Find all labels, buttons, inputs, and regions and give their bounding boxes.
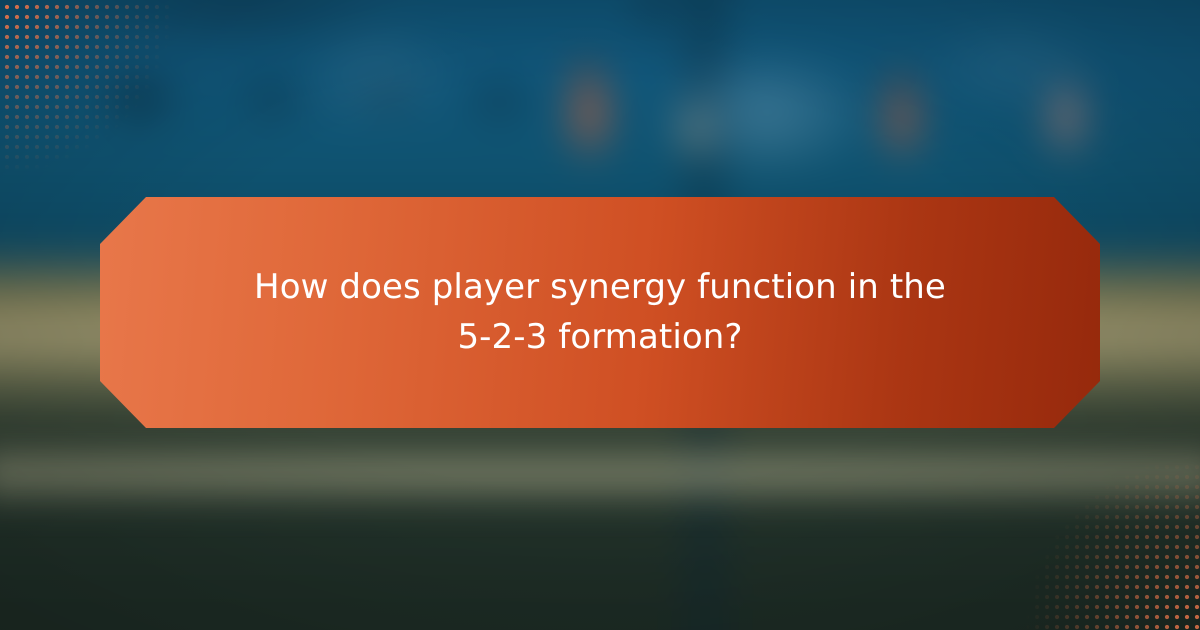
share-card-canvas: How does player synergy function in the … (0, 0, 1200, 630)
page-title: How does player synergy function in the … (200, 263, 1000, 363)
halftone-dots-bottom-right-icon (1000, 430, 1200, 630)
headline-banner: How does player synergy function in the … (100, 197, 1100, 428)
halftone-dots-top-left-icon (0, 0, 200, 200)
